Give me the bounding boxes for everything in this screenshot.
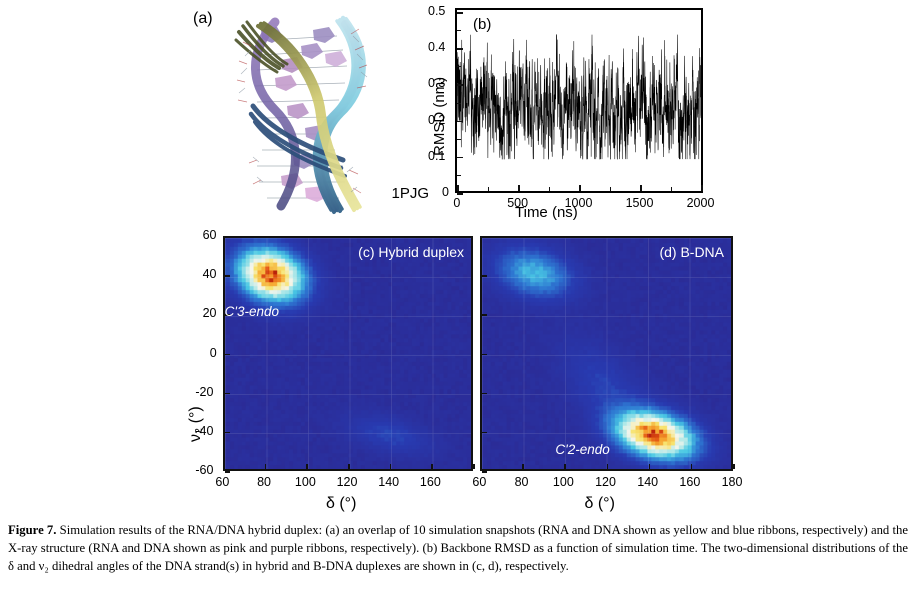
pdb-id-label: 1PJG: [391, 185, 429, 202]
caption-text: Simulation results of the RNA/DNA hybrid…: [8, 523, 908, 573]
heatmap-c-y-tick-label: 20: [203, 306, 217, 320]
heatmap-d-x-tick-mark: [480, 464, 482, 469]
heatmap-d-x-tick-label: 100: [553, 475, 574, 489]
rmsd-x-tick-mark: [457, 185, 459, 191]
rmsd-y-minor-tick: [457, 103, 461, 104]
panel-c-label: (c) Hybrid duplex: [358, 244, 464, 260]
heatmap-c-y-tick-label: -40: [195, 424, 213, 438]
rmsd-x-tick-label: 1000: [565, 196, 593, 210]
rmsd-y-tick-label: 0.4: [428, 40, 445, 54]
heatmap-c-x-tick-mark: [473, 464, 475, 469]
heatmap-d-x-tick-label: 80: [515, 475, 529, 489]
rmsd-y-tick-mark: [457, 84, 463, 86]
panel-c-hybrid-duplex-heatmap: (c) Hybrid duplex C'3-endo ν₂ (°) δ (°) …: [195, 232, 480, 512]
heatmap-c-y-tick-label: 0: [210, 346, 217, 360]
rmsd-y-tick-label: 0.3: [428, 76, 445, 90]
rmsd-x-tick-label: 500: [507, 196, 528, 210]
heatmap-c-y-tick-mark: [225, 275, 230, 277]
rmsd-y-tick-mark: [457, 157, 463, 159]
heatmap-c-y-tick-mark: [225, 432, 230, 434]
heatmap-c-x-tick-label: 160: [420, 475, 441, 489]
rmsd-y-tick-mark: [457, 193, 463, 195]
rmsd-x-tick-label: 2000: [687, 196, 715, 210]
heatmap-d-y-tick-mark: [482, 275, 487, 277]
heatmap-d-x-tick-mark: [522, 464, 524, 469]
rmsd-y-tick-label: 0.2: [428, 113, 445, 127]
heatmap-c-y-tick-mark: [225, 393, 230, 395]
heatmap-c-y-tick-mark: [225, 354, 230, 356]
heatmap-d-x-tick-label: 160: [679, 475, 700, 489]
rmsd-x-minor-tick: [610, 187, 611, 191]
heatmap-d-canvas: [482, 238, 731, 469]
heatmap-d-x-tick-mark: [691, 464, 693, 469]
rmsd-x-tick-label: 0: [453, 196, 460, 210]
heatmap-c-canvas: [225, 238, 471, 469]
heatmap-c-x-tick-label: 100: [295, 475, 316, 489]
heatmap-d-y-tick-mark: [482, 432, 487, 434]
panel-a-label: (a): [193, 10, 213, 28]
panel-c-annotation-c3-endo: C'3-endo: [225, 304, 279, 319]
rmsd-y-tick-label: 0: [442, 185, 449, 199]
rmsd-x-tick-mark: [640, 185, 642, 191]
rmsd-y-tick-label: 0.1: [428, 149, 445, 163]
molecular-structure-image: [217, 10, 402, 215]
heatmap-d-x-tick-label: 60: [472, 475, 486, 489]
panel-d-bdna-heatmap: (d) B-DNA C'2-endo δ (°) 608010012014016…: [478, 232, 768, 512]
heatmap-d-x-tick-label: 120: [595, 475, 616, 489]
heatmap-c-y-tick-mark: [225, 236, 230, 238]
heatmap-d-x-tick-label: 180: [722, 475, 743, 489]
figure-7: (a): [0, 0, 914, 512]
rmsd-x-tick-mark: [518, 185, 520, 191]
heatmap-d-y-tick-mark: [482, 236, 487, 238]
rmsd-y-tick-mark: [457, 12, 463, 14]
rmsd-x-tick-mark: [701, 185, 703, 191]
heatmap-d-y-tick-mark: [482, 314, 487, 316]
rmsd-x-tick-mark: [579, 185, 581, 191]
heatmap-c-plot-area: (c) Hybrid duplex C'3-endo: [223, 236, 473, 471]
rmsd-x-minor-tick: [488, 187, 489, 191]
heatmap-c-x-tick-label: 60: [215, 475, 229, 489]
heatmap-c-y-tick-mark: [225, 471, 230, 473]
panel-a-structure: (a): [185, 4, 435, 220]
heatmap-c-x-tick-mark: [306, 464, 308, 469]
panel-d-annotation-c2-endo: C'2-endo: [555, 442, 609, 457]
heatmap-c-y-tick-label: -60: [195, 463, 213, 477]
panel-b-rmsd-plot: (b) RMSD (nm) Time (ns) 00.10.20.30.40.5…: [455, 8, 755, 223]
heatmap-d-x-tick-mark: [607, 464, 609, 469]
rmsd-x-tick-label: 1500: [626, 196, 654, 210]
caption-figure-number: Figure 7.: [8, 523, 56, 537]
heatmap-d-x-axis-label: δ (°): [585, 495, 615, 513]
heatmap-d-x-tick-mark: [564, 464, 566, 469]
heatmap-c-x-tick-label: 120: [337, 475, 358, 489]
heatmap-c-y-tick-label: 60: [203, 228, 217, 242]
rmsd-plot-area: [455, 8, 703, 193]
heatmap-d-plot-area: (d) B-DNA C'2-endo: [480, 236, 733, 471]
heatmap-c-x-tick-mark: [390, 464, 392, 469]
rmsd-y-minor-tick: [457, 139, 461, 140]
figure-caption: Figure 7. Simulation results of the RNA/…: [8, 521, 908, 575]
heatmap-c-x-tick-mark: [265, 464, 267, 469]
rmsd-y-minor-tick: [457, 175, 461, 176]
heatmap-c-x-tick-mark: [223, 464, 225, 469]
heatmap-c-x-tick-label: 80: [257, 475, 271, 489]
heatmap-d-x-tick-label: 140: [637, 475, 658, 489]
rmsd-y-minor-tick: [457, 66, 461, 67]
heatmap-d-x-tick-mark: [733, 464, 735, 469]
rmsd-y-tick-mark: [457, 48, 463, 50]
heatmap-c-x-axis-label: δ (°): [326, 495, 356, 513]
panel-d-label: (d) B-DNA: [659, 244, 724, 260]
rmsd-trace: [457, 10, 701, 191]
rmsd-y-tick-mark: [457, 121, 463, 123]
rmsd-y-minor-tick: [457, 30, 461, 31]
panel-b-label: (b): [473, 16, 491, 33]
rmsd-x-minor-tick: [671, 187, 672, 191]
heatmap-d-y-tick-mark: [482, 354, 487, 356]
rmsd-x-minor-tick: [549, 187, 550, 191]
heatmap-d-x-tick-mark: [649, 464, 651, 469]
heatmap-c-y-tick-label: -20: [195, 385, 213, 399]
heatmap-c-x-tick-mark: [348, 464, 350, 469]
heatmap-d-y-tick-mark: [482, 393, 487, 395]
rmsd-y-tick-label: 0.5: [428, 4, 445, 18]
heatmap-c-x-tick-mark: [431, 464, 433, 469]
heatmap-c-y-tick-label: 40: [203, 267, 217, 281]
heatmap-d-y-tick-mark: [482, 471, 487, 473]
heatmap-c-x-tick-label: 140: [378, 475, 399, 489]
